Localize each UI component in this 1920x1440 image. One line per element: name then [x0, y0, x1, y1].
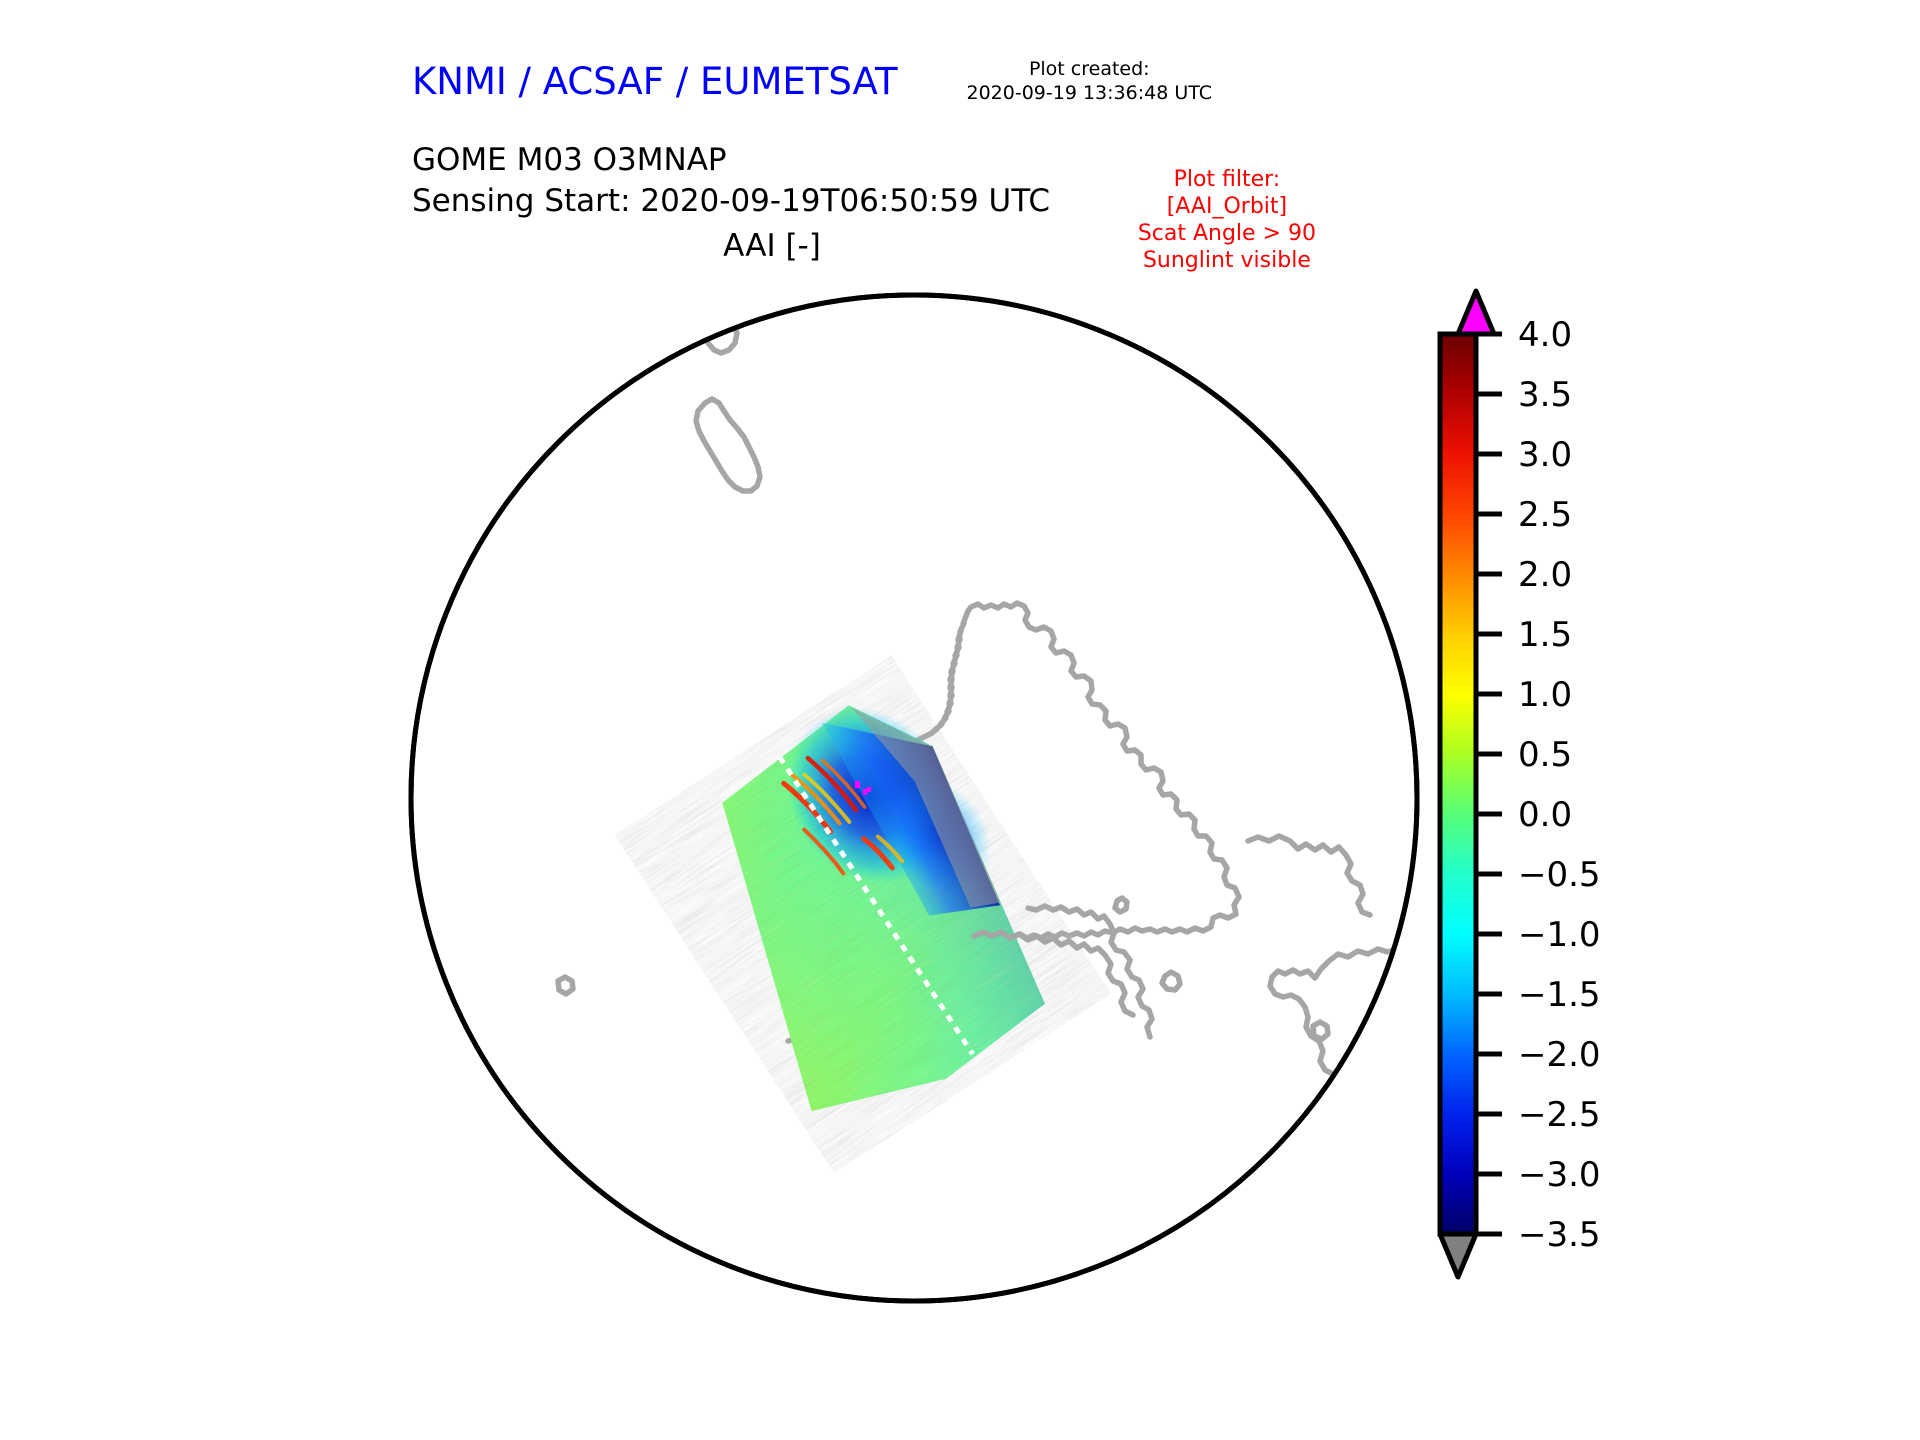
colorbar[interactable]: 4.0 3.5 3.0 2.5 2.0 1.5 1.0 0.5 0.0 −0.5…: [1430, 286, 1760, 1322]
plot-created-timestamp: 2020-09-19 13:36:48 UTC: [967, 81, 1213, 105]
plot-filter-label: Plot filter:: [1138, 166, 1316, 193]
plot-created-block: Plot created: 2020-09-19 13:36:48 UTC: [967, 57, 1213, 105]
plot-filter-sunglint: Sunglint visible: [1138, 247, 1316, 274]
colorbar-tick-label: 1.5: [1518, 615, 1572, 655]
colorbar-tick-label: −2.0: [1518, 1035, 1601, 1075]
plot-filter-name: [AAI_Orbit]: [1138, 193, 1316, 220]
colorbar-tick-label: −1.5: [1518, 975, 1601, 1015]
product-name: GOME M03 O3MNAP: [412, 140, 1050, 181]
coastline-island-macquarie: [467, 367, 481, 381]
polar-map[interactable]: [408, 281, 1420, 1315]
colorbar-tick-label: −1.0: [1518, 915, 1601, 955]
colorbar-tick-label: −3.5: [1518, 1215, 1601, 1255]
colorbar-tick-label: 2.0: [1518, 555, 1572, 595]
colorbar-tick-label: 2.5: [1518, 495, 1572, 535]
colorbar-tick-label: 3.0: [1518, 435, 1572, 475]
colorbar-over-range-cap: [1458, 291, 1494, 334]
sensing-start: Sensing Start: 2020-09-19T06:50:59 UTC: [412, 181, 1050, 222]
colorbar-tick-label: −2.5: [1518, 1095, 1601, 1135]
colorbar-under-range-cap: [1440, 1234, 1476, 1277]
colorbar-tick-label: −3.0: [1518, 1155, 1601, 1195]
colorbar-tick-labels: 4.0 3.5 3.0 2.5 2.0 1.5 1.0 0.5 0.0 −0.5…: [1518, 315, 1601, 1255]
colorbar-tick-label: 0.5: [1518, 735, 1572, 775]
colorbar-tick-label: 3.5: [1518, 375, 1572, 415]
map-panel[interactable]: [408, 281, 1420, 1315]
coastline-tasmania: [521, 398, 549, 423]
colorbar-tick-label: −0.5: [1518, 855, 1601, 895]
coastline-south-georgia: [1408, 989, 1420, 1004]
colorbar-gradient-body: [1440, 334, 1476, 1234]
plot-filter-scat-angle: Scat Angle > 90: [1138, 220, 1316, 247]
product-info-block: GOME M03 O3MNAP Sensing Start: 2020-09-1…: [412, 140, 1050, 222]
colorbar-panel[interactable]: 4.0 3.5 3.0 2.5 2.0 1.5 1.0 0.5 0.0 −0.5…: [1430, 286, 1760, 1322]
colorbar-tick-label: 0.0: [1518, 795, 1572, 835]
plot-filter-block: Plot filter: [AAI_Orbit] Scat Angle > 90…: [1138, 166, 1316, 274]
plot-created-label: Plot created:: [967, 57, 1213, 81]
colorbar-tick-label: 4.0: [1518, 315, 1572, 355]
colorbar-tick-label: 1.0: [1518, 675, 1572, 715]
organisation-title: KNMI / ACSAF / EUMETSAT: [412, 60, 898, 103]
colorbar-ticks: [1476, 334, 1502, 1234]
page-title: AAI [-]: [412, 228, 1132, 264]
